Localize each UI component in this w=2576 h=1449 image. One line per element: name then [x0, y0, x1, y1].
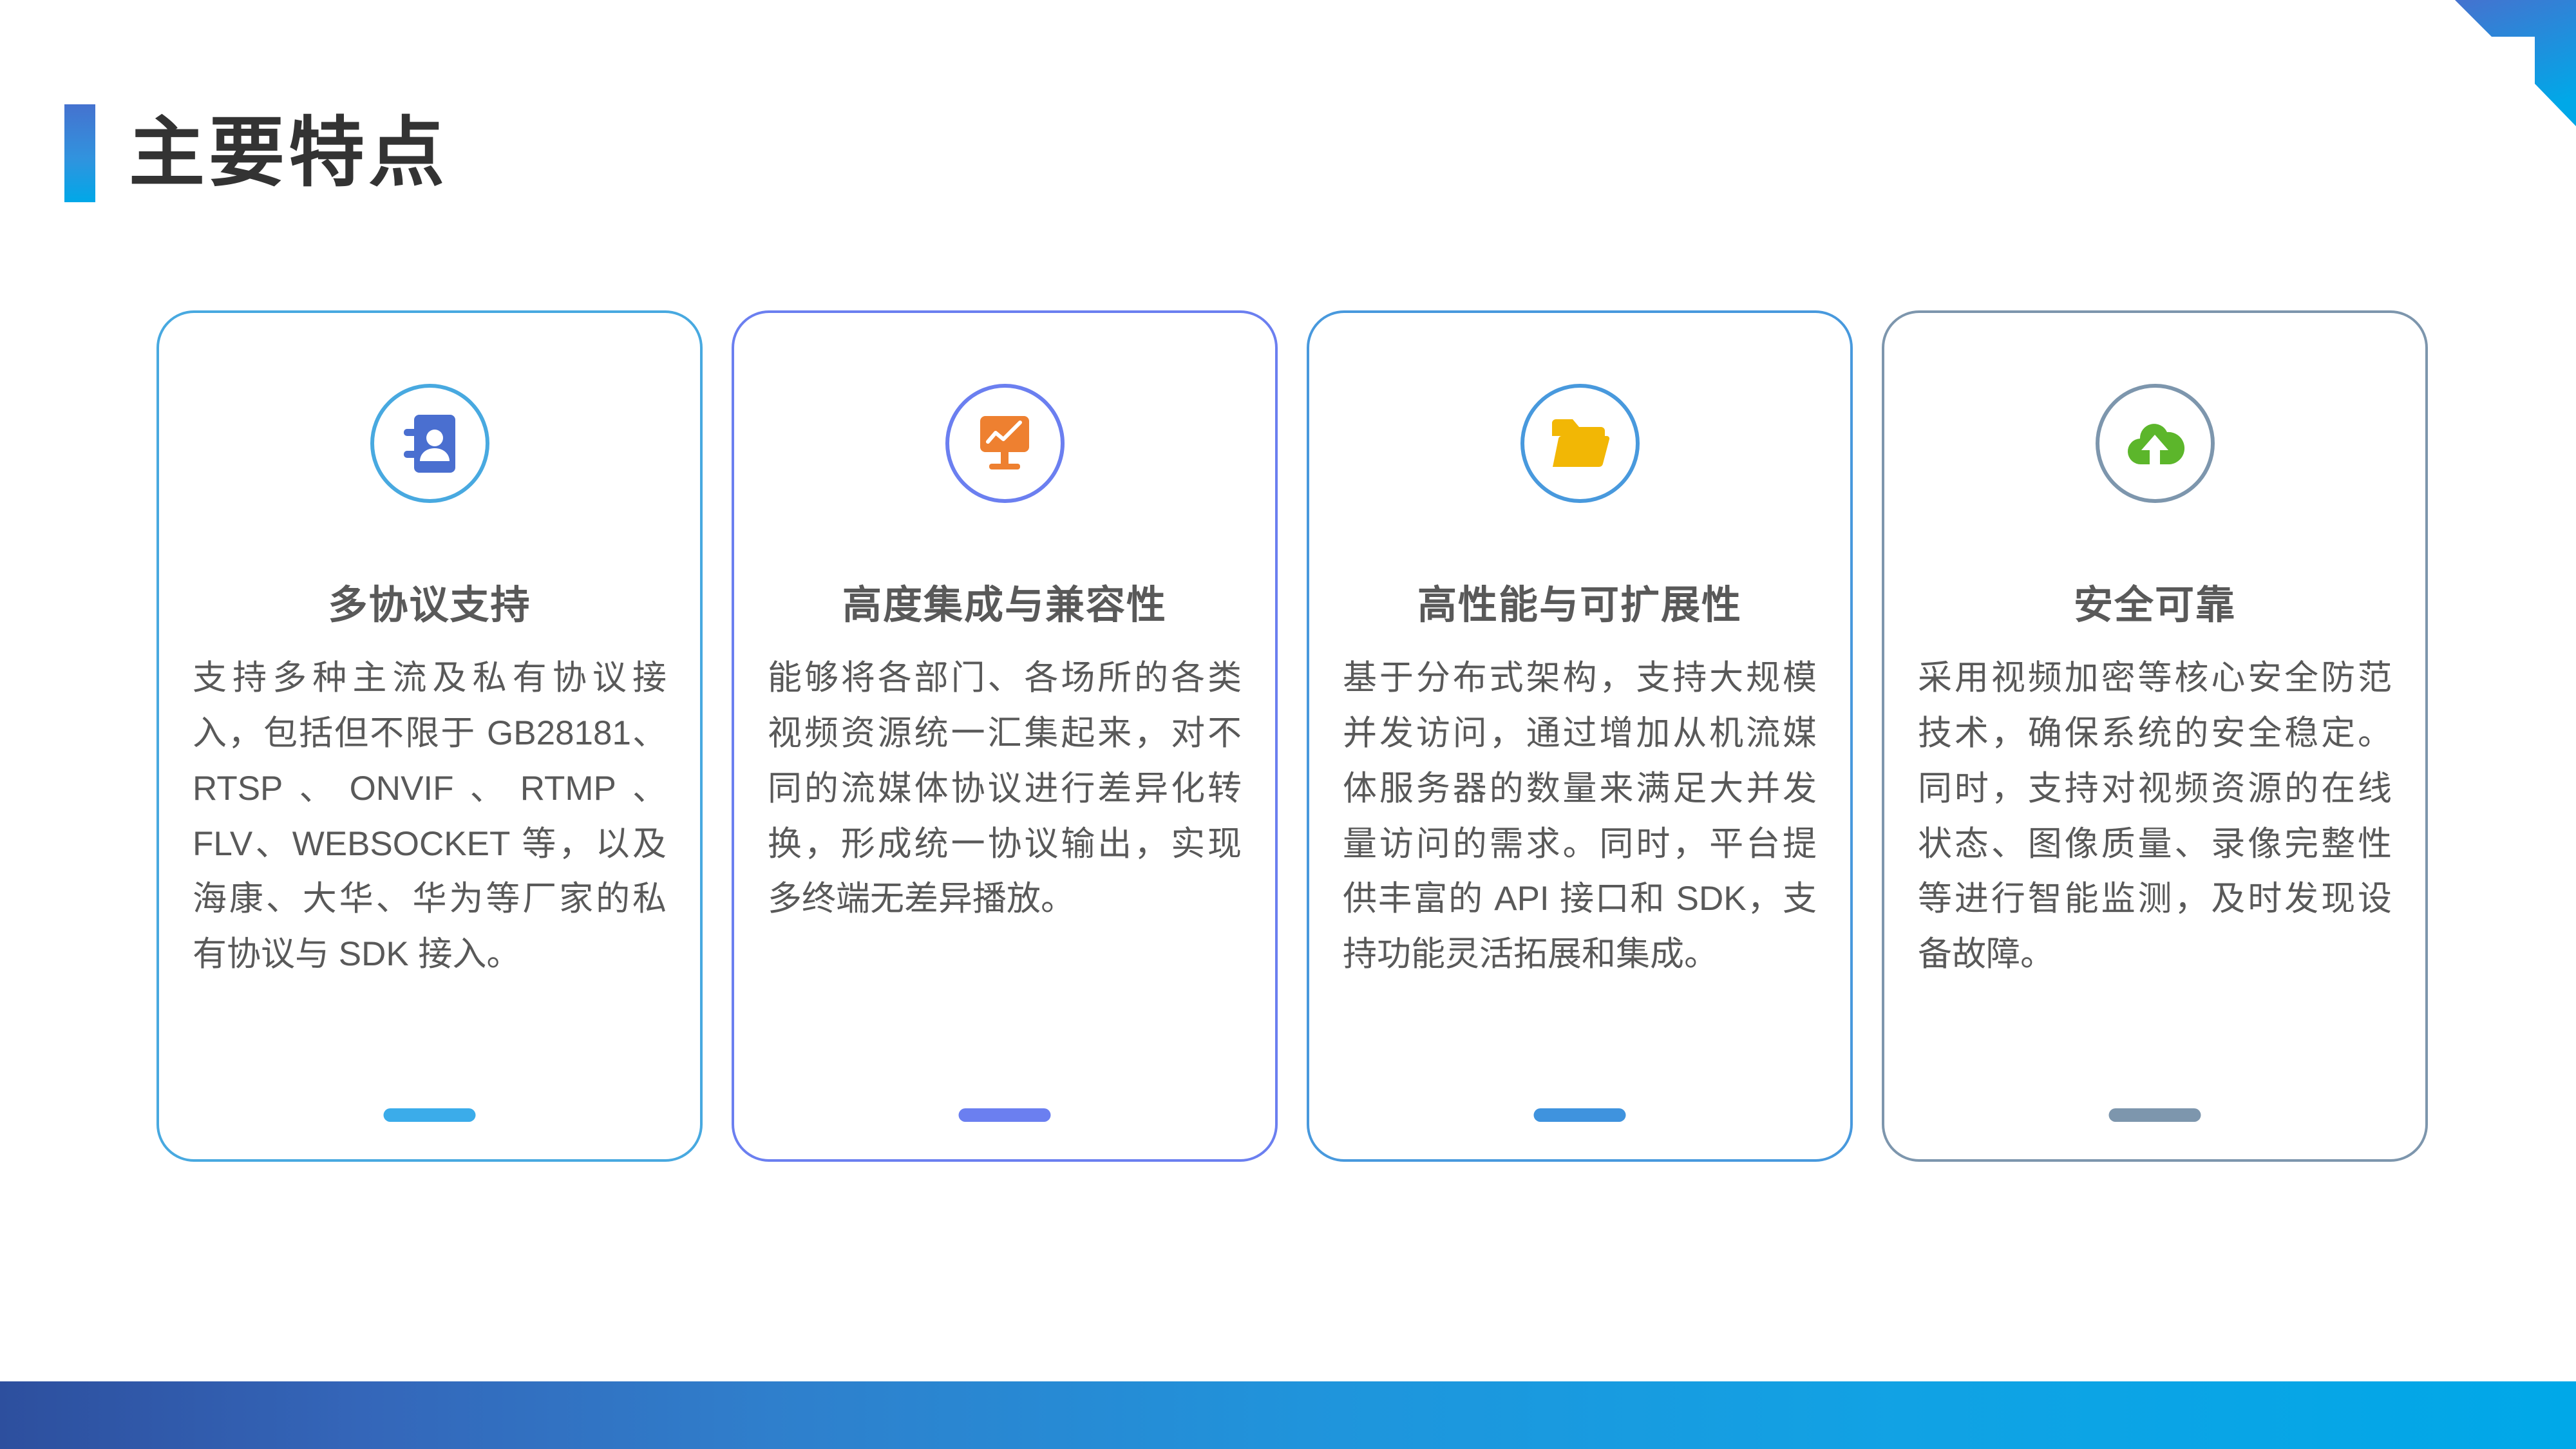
address-book-icon — [402, 413, 457, 474]
feature-card-list: 多协议支持 支持多种主流及私有协议接入，包括但不限于 GB28181、RTSP、… — [156, 310, 2428, 1162]
card-title-4: 安全可靠 — [2074, 585, 2236, 625]
card-body-4: 采用视频加密等核心安全防范技术，确保系统的安全稳定。同时，支持对视频资源的在线状… — [1918, 650, 2392, 982]
icon-ring-1 — [370, 384, 489, 503]
bottom-gradient-bar — [0, 1381, 2576, 1449]
feature-card-performance[interactable]: 高性能与可扩展性 基于分布式架构，支持大规模并发访问，通过增加从机流媒体服务器的… — [1307, 310, 1853, 1162]
icon-ring-2 — [945, 384, 1065, 503]
feature-card-multi-protocol[interactable]: 多协议支持 支持多种主流及私有协议接入，包括但不限于 GB28181、RTSP、… — [156, 310, 703, 1162]
card-title-3: 高性能与可扩展性 — [1417, 585, 1742, 625]
page-heading: 主要特点 — [64, 104, 448, 202]
monitor-chart-icon — [974, 415, 1036, 473]
icon-ring-4 — [2096, 384, 2215, 503]
feature-card-security[interactable]: 安全可靠 采用视频加密等核心安全防范技术，确保系统的安全稳定。同时，支持对视频资… — [1882, 310, 2428, 1162]
card-dash-3 — [1534, 1108, 1626, 1122]
card-title-1: 多协议支持 — [328, 585, 531, 625]
folder-icon — [1549, 417, 1610, 471]
icon-ring-3 — [1520, 384, 1640, 503]
card-dash-2 — [959, 1108, 1051, 1122]
card-body-3: 基于分布式架构，支持大规模并发访问，通过增加从机流媒体服务器的数量来满足大并发量… — [1343, 650, 1817, 982]
card-body-2: 能够将各部门、各场所的各类视频资源统一汇集起来，对不同的流媒体协议进行差异化转换… — [768, 650, 1242, 927]
card-dash-1 — [384, 1108, 476, 1122]
card-title-2: 高度集成与兼容性 — [842, 585, 1167, 625]
page-title: 主要特点 — [129, 115, 448, 191]
card-dash-4 — [2109, 1108, 2201, 1122]
card-body-1: 支持多种主流及私有协议接入，包括但不限于 GB28181、RTSP、ONVIF、… — [193, 650, 667, 982]
cloud-upload-icon — [2123, 419, 2186, 468]
feature-card-integration[interactable]: 高度集成与兼容性 能够将各部门、各场所的各类视频资源统一汇集起来，对不同的流媒体… — [732, 310, 1278, 1162]
corner-decoration — [2383, 0, 2576, 161]
slide-root: 主要特点 多协议支持 支持多种主流及私有协议接入，包括但不限于 GB28181、… — [0, 0, 2576, 1449]
heading-accent-bar — [64, 104, 95, 202]
